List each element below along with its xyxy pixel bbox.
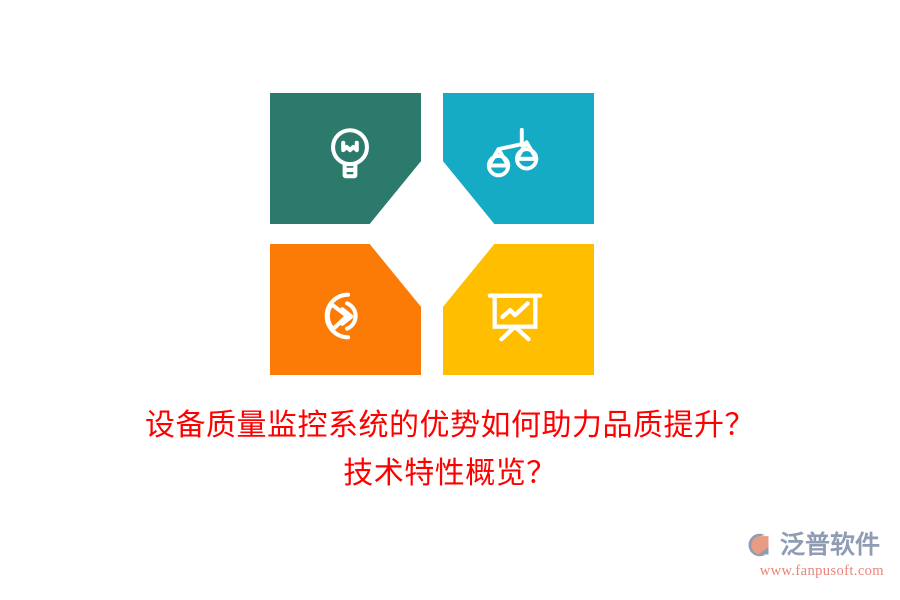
page-canvas: 设备质量监控系统的优势如何助力品质提升？ 技术特性概览？ 泛普软件 www.fa…	[0, 0, 900, 600]
quadrant-tile-bottom-right[interactable]	[443, 244, 594, 375]
lightbulb-icon	[274, 87, 425, 218]
four-quadrant-graphic	[270, 93, 594, 375]
watermark-logo: 泛普软件 www.fanpusoft.com	[746, 528, 886, 590]
page-title: 设备质量监控系统的优势如何助力品质提升？ 技术特性概览？	[0, 402, 900, 498]
presentation-chart-icon	[439, 250, 590, 381]
page-title-line-2: 技术特性概览？	[0, 450, 900, 498]
watermark-brand-name: 泛普软件	[780, 530, 880, 560]
pie-chart-icon	[274, 250, 425, 381]
watermark-brand-row: 泛普软件	[746, 528, 886, 562]
quadrant-tile-top-right[interactable]	[443, 93, 594, 224]
page-title-line-1: 设备质量监控系统的优势如何助力品质提升？	[0, 402, 900, 450]
balance-scales-icon	[439, 87, 590, 218]
quadrant-tile-bottom-left[interactable]	[270, 244, 421, 375]
fanpu-logo-icon	[746, 530, 776, 560]
watermark-url: www.fanpusoft.com	[746, 562, 886, 580]
quadrant-tile-top-left[interactable]	[270, 93, 421, 224]
